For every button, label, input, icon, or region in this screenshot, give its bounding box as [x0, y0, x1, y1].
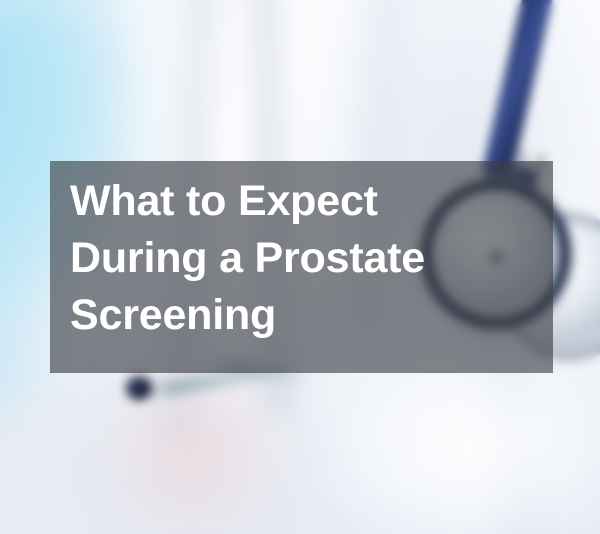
hero-banner: What to Expect During a Prostate Screeni…	[0, 0, 600, 534]
title-overlay-panel: What to Expect During a Prostate Screeni…	[50, 161, 553, 373]
page-title: What to Expect During a Prostate Screeni…	[70, 173, 540, 344]
stethoscope-earpiece	[126, 376, 152, 400]
